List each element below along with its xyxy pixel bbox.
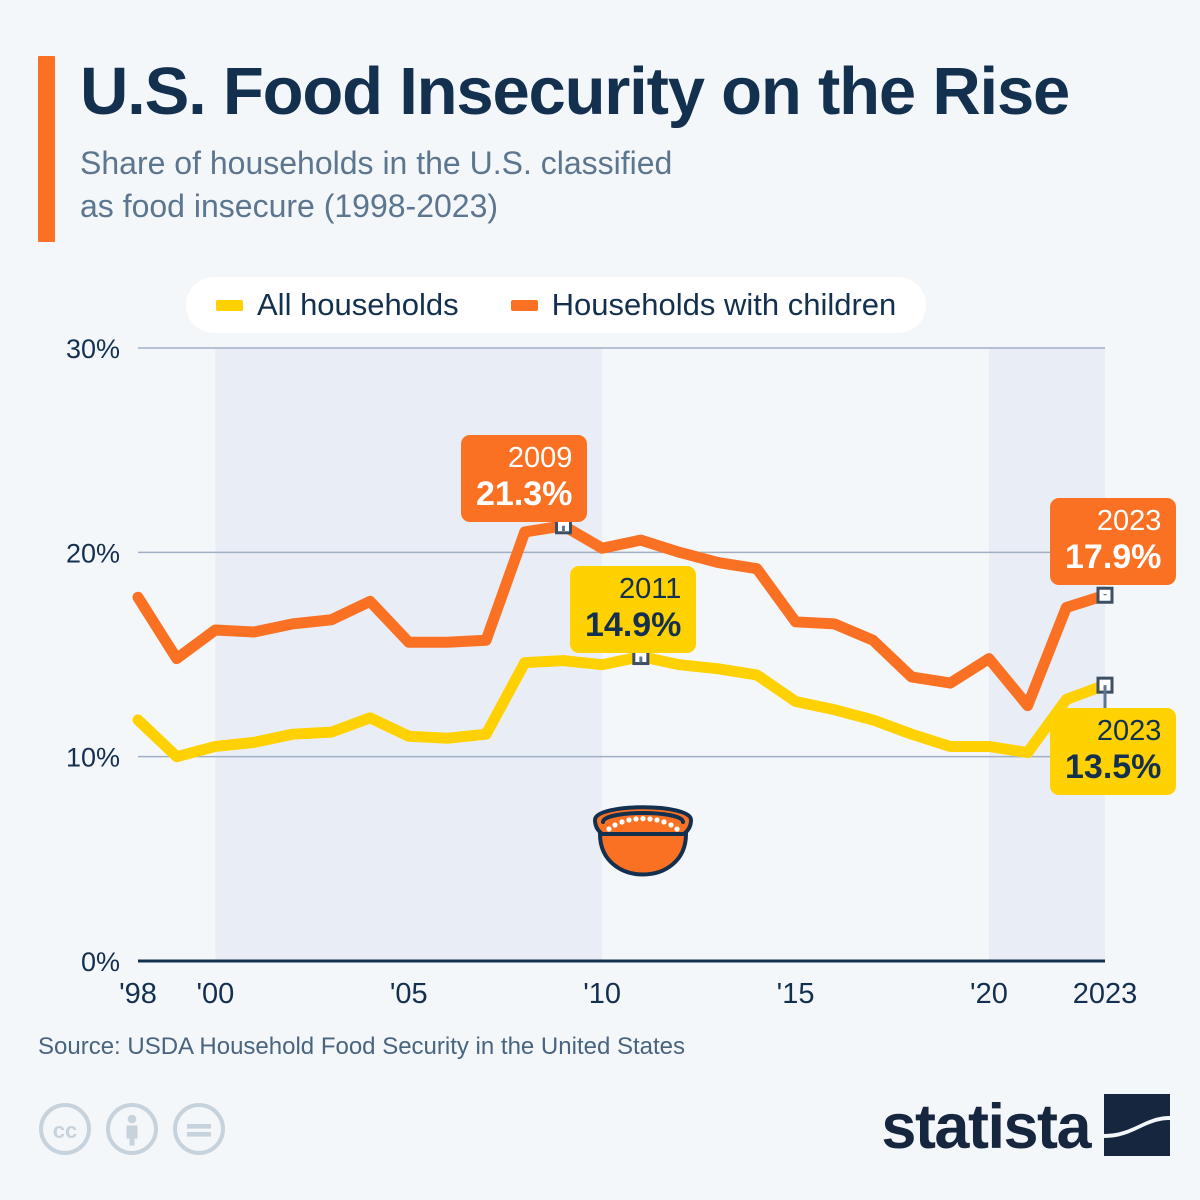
legend-item-all-households[interactable]: All households (216, 287, 459, 323)
legend-swatch-households-with-children (511, 300, 538, 311)
statista-logo[interactable]: statista (881, 1094, 1170, 1161)
source-note: Source: USDA Household Food Security in … (38, 1033, 685, 1061)
callout-2023-children[interactable]: 2023 17.9% (1050, 498, 1176, 585)
callout-year: 2023 (1065, 715, 1161, 748)
callout-year: 2009 (476, 442, 572, 475)
svg-text:20%: 20% (66, 538, 120, 568)
svg-text:'98: '98 (119, 978, 157, 1010)
svg-text:'15: '15 (777, 978, 815, 1010)
chart-legend: All households Households with children (186, 277, 926, 333)
callout-value: 17.9% (1065, 538, 1161, 576)
subtitle-line-2: as food insecure (1998-2023) (80, 188, 498, 224)
svg-text:'05: '05 (390, 978, 428, 1010)
accent-bar (38, 56, 55, 242)
header: U.S. Food Insecurity on the Rise Share o… (38, 56, 1178, 228)
callout-year: 2023 (1065, 505, 1161, 538)
legend-label-households-with-children: Households with children (552, 287, 897, 323)
y-axis-labels: 0%10%20%30% (66, 336, 120, 977)
callout-value: 13.5% (1065, 748, 1161, 786)
svg-text:'00: '00 (196, 978, 234, 1010)
svg-text:'10: '10 (583, 978, 621, 1010)
attribution-icon[interactable] (105, 1102, 159, 1161)
svg-text:'20: '20 (970, 978, 1008, 1010)
cc-icon[interactable]: cc (38, 1102, 92, 1161)
callout-2023-all[interactable]: 2023 13.5% (1050, 708, 1176, 795)
chart-svg: 0%10%20%30% '98'00'05'10'15'202023 (0, 336, 1200, 1026)
svg-text:10%: 10% (66, 743, 120, 773)
callout-value: 14.9% (585, 606, 681, 644)
svg-text:cc: cc (53, 1118, 77, 1143)
bowl-illustration (595, 807, 691, 874)
no-derivatives-icon[interactable] (172, 1102, 226, 1161)
svg-text:30%: 30% (66, 336, 120, 364)
callout-year: 2011 (585, 573, 681, 606)
page-subtitle: Share of households in the U.S. classifi… (38, 128, 1178, 228)
legend-item-households-with-children[interactable]: Households with children (511, 287, 897, 323)
x-axis-labels: '98'00'05'10'15'202023 (119, 978, 1137, 1010)
callout-value: 21.3% (476, 475, 572, 513)
svg-text:2023: 2023 (1073, 978, 1138, 1010)
creative-commons-icons: cc (38, 1102, 239, 1161)
subtitle-line-1: Share of households in the U.S. classifi… (80, 145, 672, 181)
statista-logo-text: statista (881, 1096, 1090, 1159)
callout-2011-all[interactable]: 2011 14.9% (570, 566, 696, 653)
svg-text:0%: 0% (81, 947, 120, 977)
line-chart: 0%10%20%30% '98'00'05'10'15'202023 (0, 336, 1200, 1026)
callout-2009-children[interactable]: 2009 21.3% (461, 435, 587, 522)
legend-label-all-households: All households (257, 287, 459, 323)
page-title: U.S. Food Insecurity on the Rise (38, 56, 1178, 128)
legend-swatch-all-households (216, 300, 243, 311)
statista-logo-mark (1104, 1094, 1170, 1161)
